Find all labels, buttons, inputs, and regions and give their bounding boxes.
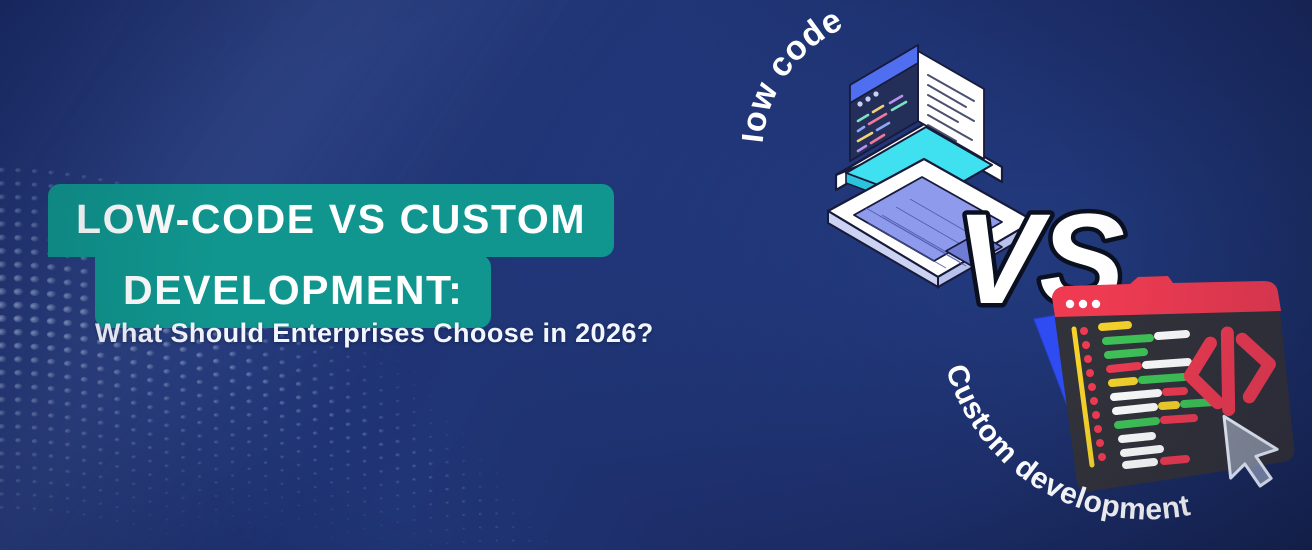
label-custom-development-text: Custom development bbox=[939, 360, 1193, 526]
headline-block: LOW-CODE VS CUSTOM DEVELOPMENT: bbox=[0, 184, 810, 328]
banner-root: LOW-CODE VS CUSTOM DEVELOPMENT: What Sho… bbox=[0, 0, 1312, 550]
label-custom-development: Custom development bbox=[930, 350, 1260, 550]
subtitle-text: What Should Enterprises Choose in 2026? bbox=[95, 318, 654, 349]
headline-line-1: LOW-CODE VS CUSTOM bbox=[48, 184, 614, 257]
